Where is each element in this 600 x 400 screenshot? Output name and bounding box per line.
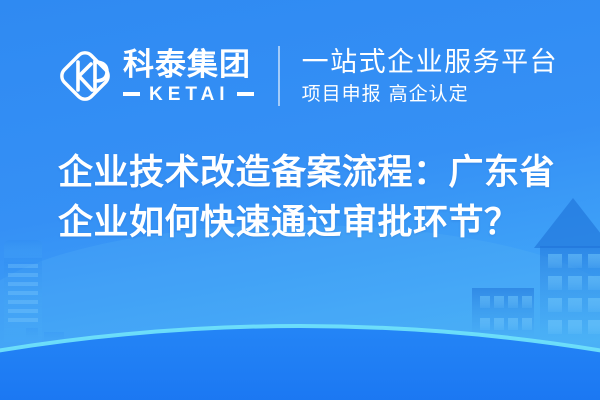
banner-header: 科泰集团 KETAI 一站式企业服务平台 项目申报 高企认定: [55, 38, 558, 114]
header-tagline: 一站式企业服务平台 项目申报 高企认定: [302, 40, 559, 112]
promo-banner: 科泰集团 KETAI 一站式企业服务平台 项目申报 高企认定 企业技术改造备案流…: [0, 0, 600, 400]
banner-headline: 企业技术改造备案流程：广东省企业如何快速通过审批环节？: [58, 148, 570, 248]
building-left-tower: [4, 240, 42, 342]
bottom-curve-band: [0, 326, 600, 400]
logo-company-name-cn: 科泰集团: [123, 49, 254, 82]
ketai-kp-monogram-icon: [55, 45, 115, 107]
logo-wordmark: 科泰集团 KETAI: [123, 41, 254, 111]
tagline-primary: 一站式企业服务平台: [302, 47, 559, 78]
header-divider: [278, 46, 280, 106]
logo-company-name-en-row: KETAI: [123, 85, 254, 104]
building-left-small: [26, 328, 64, 352]
logo-dash-right-icon: [237, 92, 254, 96]
logo-company-name-en: KETAI: [140, 85, 237, 104]
tagline-secondary: 项目申报 高企认定: [302, 82, 559, 106]
building-right-small: [472, 288, 534, 346]
logo-dash-left-icon: [123, 92, 140, 96]
